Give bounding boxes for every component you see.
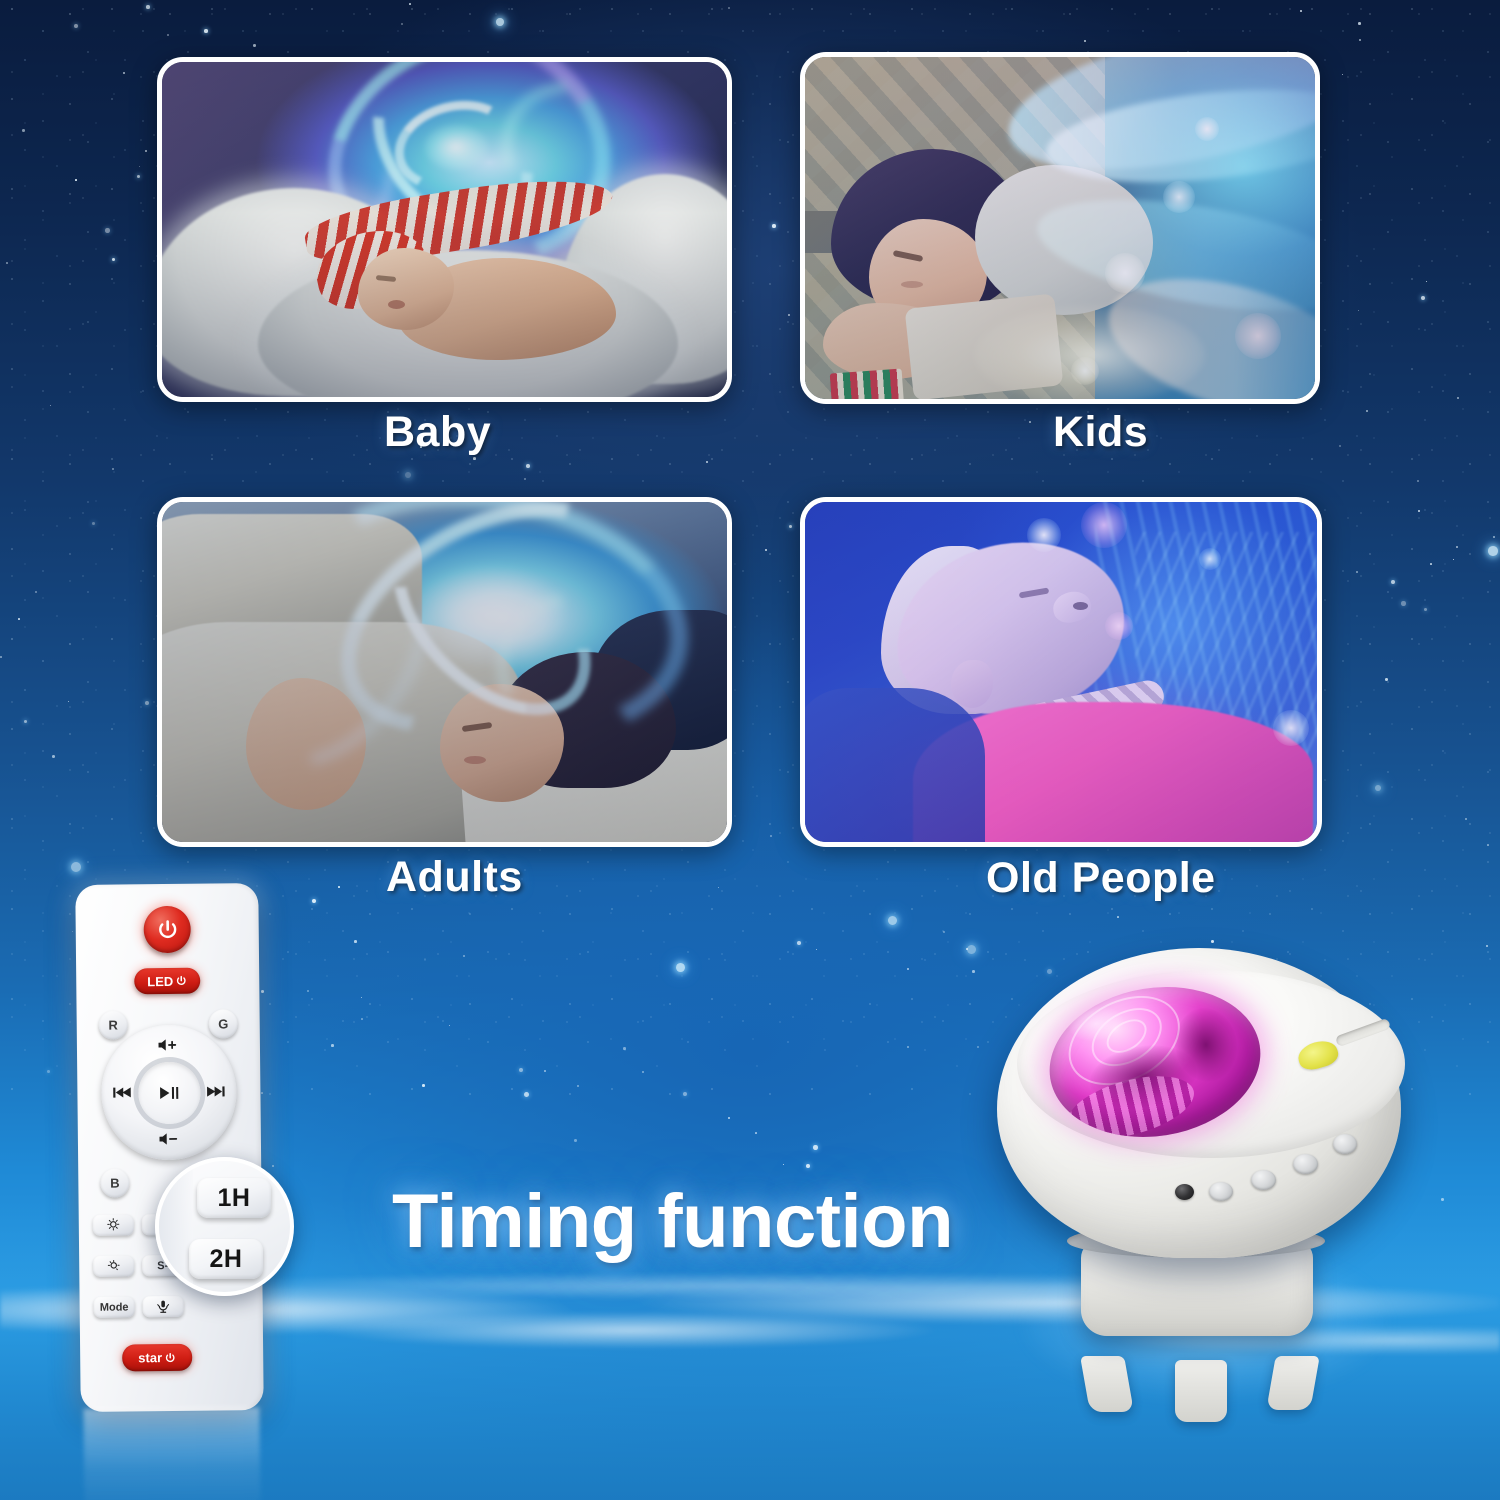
projector-button-1[interactable] <box>1209 1182 1233 1201</box>
star <box>137 175 140 178</box>
star <box>1391 580 1395 584</box>
star <box>6 262 8 264</box>
star <box>943 931 945 933</box>
magnified-timer-2h-button[interactable]: 2H <box>189 1239 263 1279</box>
star <box>1356 571 1358 573</box>
star <box>972 970 975 973</box>
star <box>718 887 719 888</box>
star <box>967 945 976 954</box>
star <box>524 1092 529 1097</box>
star <box>74 24 78 28</box>
projector-leg-right <box>1266 1356 1320 1410</box>
projector-ir-sensor <box>1175 1184 1194 1200</box>
magnified-timer-2h-label: 2H <box>210 1245 243 1274</box>
star <box>139 166 140 167</box>
star <box>642 1071 644 1073</box>
power-icon <box>175 975 187 987</box>
star <box>577 1085 579 1087</box>
projector-leg-center <box>1175 1360 1227 1422</box>
led-button[interactable]: LED <box>134 968 200 995</box>
star <box>401 23 403 25</box>
star <box>1417 480 1419 482</box>
photo-baby-scene <box>162 62 727 397</box>
star <box>105 228 110 233</box>
star <box>204 29 208 33</box>
star <box>52 755 55 758</box>
product-image-stage: Baby Kids <box>0 0 1500 1500</box>
star <box>1359 39 1361 41</box>
star <box>354 940 357 943</box>
star <box>772 224 776 228</box>
brightness-up-button[interactable] <box>93 1214 134 1235</box>
star <box>788 314 790 316</box>
star <box>146 5 150 9</box>
next-track-icon[interactable] <box>203 1081 227 1101</box>
magnified-timer-1h-button[interactable]: 1H <box>197 1178 271 1218</box>
play-pause-button[interactable] <box>138 1061 201 1124</box>
caption-kids: Kids <box>1053 408 1148 457</box>
star <box>312 899 316 903</box>
star <box>449 1025 450 1026</box>
magnified-timer-1h-label: 1H <box>218 1184 251 1213</box>
color-button-r-label: R <box>108 1018 118 1033</box>
star <box>145 150 147 152</box>
star <box>623 1047 626 1050</box>
star <box>1426 281 1427 282</box>
star <box>47 1070 50 1073</box>
star-button[interactable]: star <box>122 1344 192 1372</box>
star <box>1486 945 1488 947</box>
star <box>1342 74 1343 75</box>
star <box>92 522 95 525</box>
mode-label: Mode <box>100 1301 129 1313</box>
microphone-icon <box>156 1299 171 1314</box>
projector-vent-slot <box>1335 1018 1391 1047</box>
brightness-down-button[interactable] <box>93 1255 134 1276</box>
projector-button-4[interactable] <box>1333 1134 1357 1154</box>
star <box>463 955 465 957</box>
star <box>888 916 897 925</box>
projector-leg-left <box>1080 1356 1134 1412</box>
power-icon <box>155 917 179 941</box>
star <box>75 179 77 181</box>
star <box>1385 678 1388 681</box>
star <box>544 1070 546 1072</box>
projector-top-surface <box>1017 970 1405 1158</box>
volume-up-icon[interactable] <box>151 1035 187 1055</box>
star <box>123 72 125 74</box>
star <box>1029 421 1031 423</box>
star <box>1084 40 1086 42</box>
star <box>519 1068 523 1072</box>
color-button-b[interactable]: B <box>100 1168 129 1197</box>
star <box>1493 536 1495 538</box>
star <box>1366 410 1368 412</box>
star <box>24 720 27 723</box>
led-button-label: LED <box>147 973 173 988</box>
star <box>272 1165 274 1167</box>
star <box>0 656 2 658</box>
star <box>167 34 169 36</box>
projector-button-2[interactable] <box>1251 1170 1276 1190</box>
star <box>770 835 772 837</box>
star <box>1457 397 1459 399</box>
star <box>361 997 362 998</box>
star <box>409 3 411 5</box>
star <box>806 1164 810 1168</box>
star <box>1465 818 1467 820</box>
star <box>253 44 256 47</box>
page-title: Timing function <box>392 1178 953 1265</box>
brightness-down-icon <box>106 1259 121 1274</box>
star <box>728 1117 730 1119</box>
star <box>728 7 730 9</box>
star <box>496 18 504 26</box>
caption-baby: Baby <box>384 408 491 457</box>
magnifier-remote-edge <box>159 1161 193 1292</box>
star <box>473 457 476 460</box>
star <box>1339 445 1341 447</box>
star <box>405 472 411 478</box>
star <box>966 948 968 950</box>
star <box>526 464 530 468</box>
star <box>338 886 340 888</box>
star <box>574 1139 577 1142</box>
mode-button[interactable]: Mode <box>94 1296 135 1317</box>
color-button-b-label: B <box>110 1176 120 1191</box>
power-button[interactable] <box>143 906 190 953</box>
remote-control: LED R G <box>75 883 264 1412</box>
star <box>307 990 309 992</box>
star <box>18 618 20 620</box>
dpad[interactable] <box>101 1024 237 1160</box>
star <box>1300 10 1302 12</box>
projector-body <box>997 948 1401 1258</box>
projector-lens-dome <box>1039 972 1272 1151</box>
star <box>676 963 685 972</box>
star <box>112 468 114 470</box>
play-pause-icon <box>158 1084 180 1100</box>
star-button-label: star <box>138 1350 162 1365</box>
star <box>813 1145 818 1150</box>
star <box>1488 546 1498 556</box>
color-button-g-label: G <box>218 1016 228 1031</box>
star <box>1487 844 1489 846</box>
star <box>977 1046 979 1048</box>
star <box>907 1046 909 1048</box>
photo-adults-scene <box>162 502 727 842</box>
star <box>72 931 73 932</box>
previous-track-icon[interactable] <box>110 1082 134 1102</box>
photo-kids-scene <box>805 57 1315 399</box>
star <box>22 129 25 132</box>
star <box>422 1084 425 1087</box>
photo-card-baby <box>157 57 732 402</box>
star <box>1358 310 1359 311</box>
timer-magnifier-callout: 1H 2H <box>155 1157 294 1296</box>
star <box>907 968 909 970</box>
caption-adults: Adults <box>386 853 523 902</box>
star <box>361 1018 363 1020</box>
star <box>783 1164 784 1165</box>
color-button-g[interactable]: G <box>209 1009 238 1038</box>
star <box>1421 296 1425 300</box>
star <box>755 1132 757 1134</box>
star <box>524 478 526 480</box>
remote-reflection <box>83 1407 260 1500</box>
star <box>50 405 51 406</box>
brightness-up-icon <box>106 1218 121 1233</box>
star <box>789 525 792 528</box>
star <box>261 1092 263 1094</box>
star <box>112 258 115 261</box>
star <box>1375 785 1381 791</box>
star <box>706 461 708 463</box>
star <box>145 701 149 705</box>
star <box>816 949 817 950</box>
photo-card-kids <box>800 52 1320 404</box>
star <box>68 701 69 702</box>
star <box>1401 601 1406 606</box>
star <box>1430 563 1432 565</box>
color-button-r[interactable]: R <box>99 1010 128 1039</box>
star <box>1424 608 1427 611</box>
star <box>765 549 767 551</box>
caption-old-people: Old People <box>986 854 1216 903</box>
star <box>261 990 264 993</box>
volume-down-icon[interactable] <box>152 1129 188 1149</box>
star <box>1441 1198 1444 1201</box>
projector-button-3[interactable] <box>1293 1154 1318 1174</box>
photo-old-people-scene <box>805 502 1317 842</box>
star <box>1456 546 1458 548</box>
mic-button[interactable] <box>143 1296 184 1317</box>
star <box>1358 22 1361 25</box>
star <box>683 1092 687 1096</box>
star <box>35 591 37 593</box>
projector-warning-sticker <box>1295 1037 1341 1073</box>
star <box>331 1044 334 1047</box>
star <box>1418 510 1420 512</box>
power-icon <box>164 1351 176 1363</box>
star <box>1453 559 1454 560</box>
photo-card-old-people <box>800 497 1322 847</box>
star-projector-device <box>985 918 1425 1428</box>
photo-card-adults <box>157 497 732 847</box>
star <box>797 941 801 945</box>
star <box>71 862 81 872</box>
